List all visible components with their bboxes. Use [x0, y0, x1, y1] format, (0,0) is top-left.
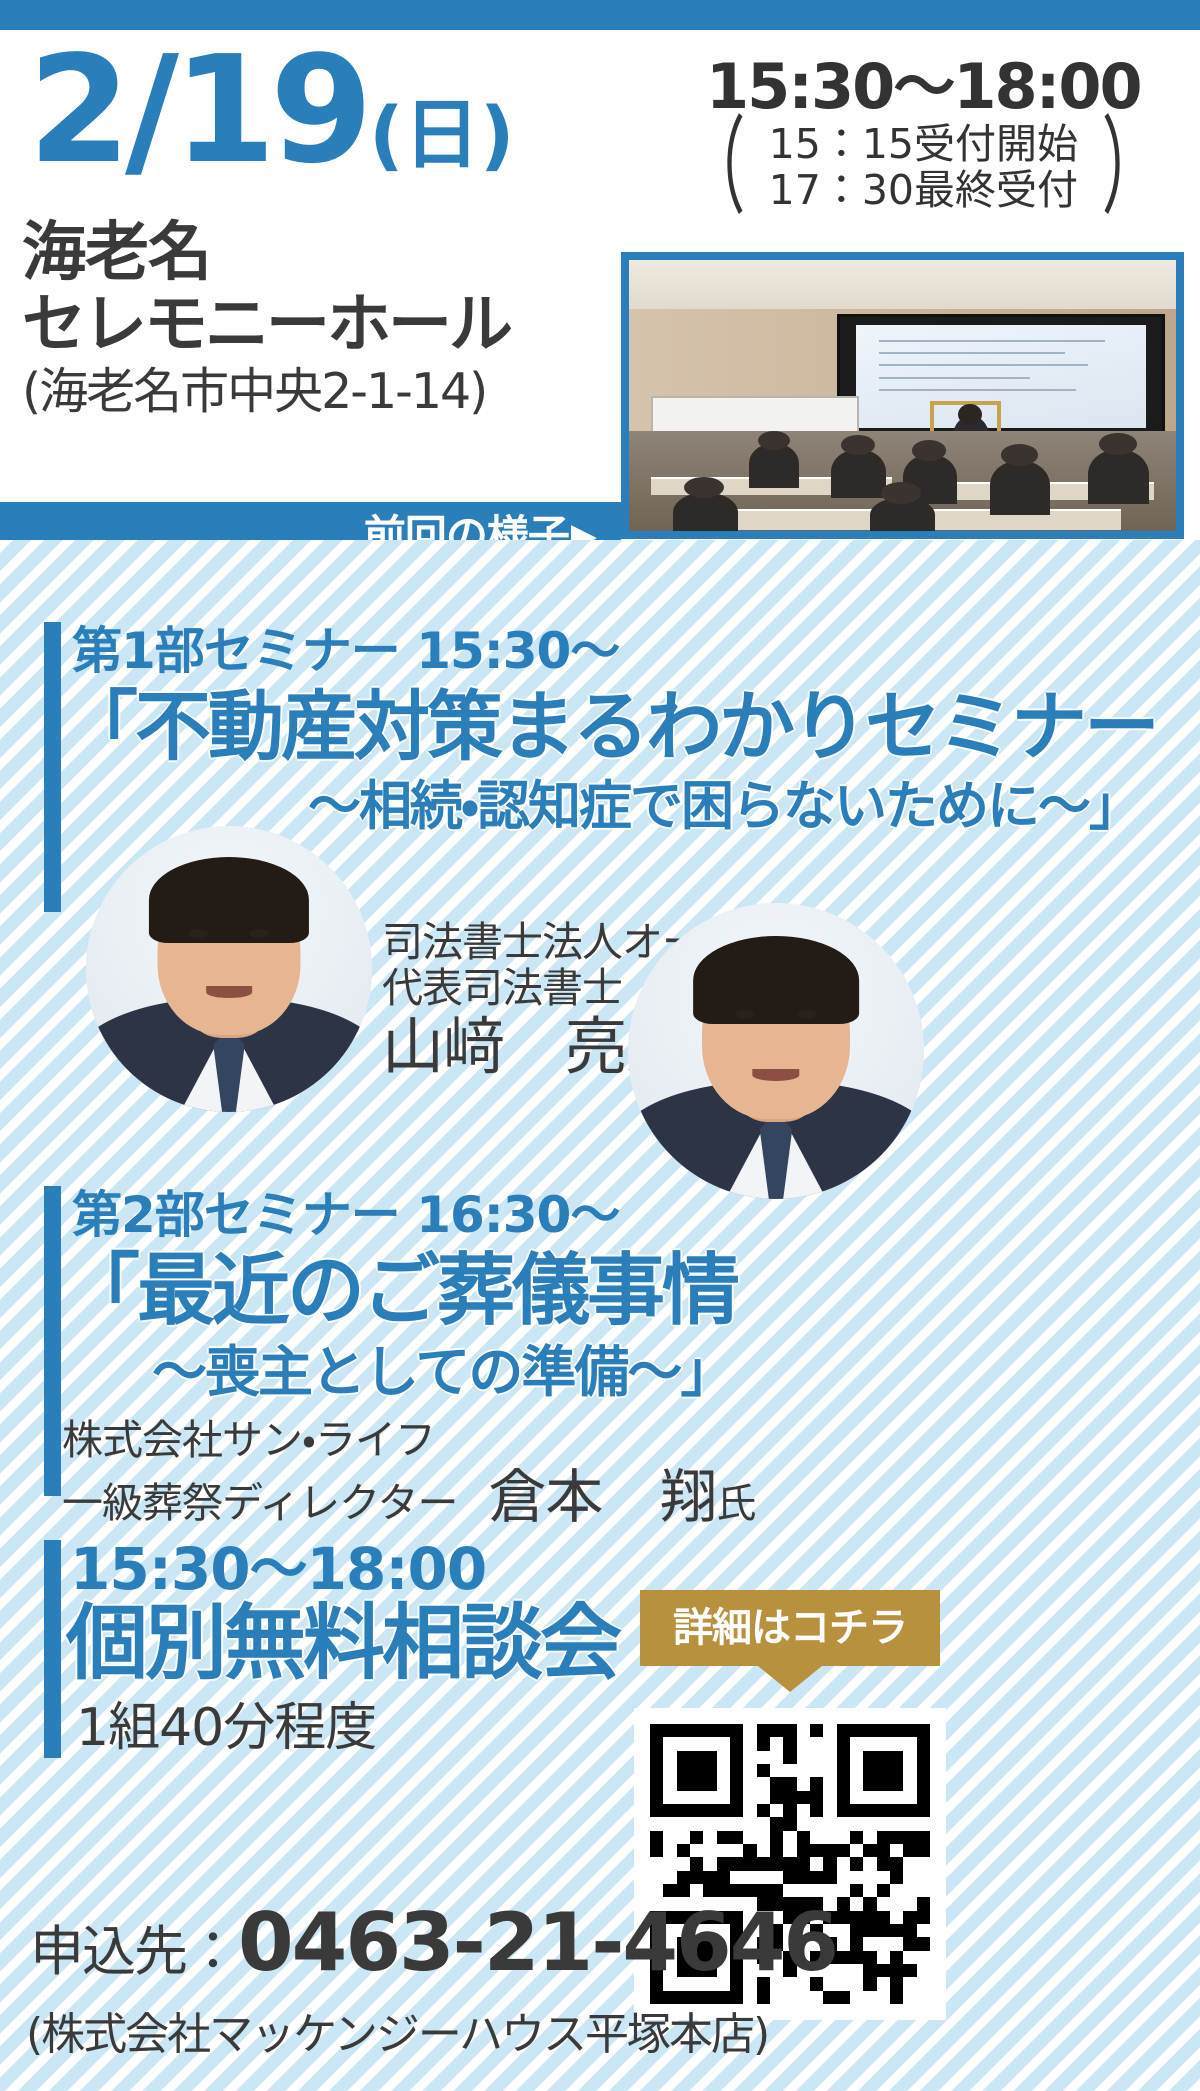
section-2-credential-line2: 一級葬祭ディレクター: [62, 1479, 458, 1527]
venue-address: (海老名市中央2-1-14): [22, 363, 510, 422]
event-time-notes-text: 15：15受付開始 17：30最終受付: [769, 122, 1078, 214]
event-time-block: 15:30〜18:00 （ 15：15受付開始 17：30最終受付 ）: [663, 56, 1184, 214]
section-1-subtitle: 〜相続・認知症で困らないために〜」: [308, 780, 1140, 834]
paren-close: ）: [1102, 135, 1160, 201]
contact-label: 申込先：: [30, 1907, 238, 1986]
content-panel: 第1部セミナー 15:30〜 「不動産対策まるわかりセミナー 〜相続・認知症で困…: [0, 540, 1200, 2091]
contact-company: (株式会社マッケンジーハウス平塚本店): [26, 1998, 768, 2062]
section-1-speaker-portrait: [86, 826, 372, 1112]
ribbon-tail-icon: [758, 1666, 822, 1692]
venue-name-line1: 海老名: [22, 218, 510, 290]
header-panel: 2/19 (日) 15:30〜18:00 （ 15：15受付開始 17：30最終…: [0, 30, 1200, 540]
section-2-speaker-suffix: 氏: [716, 1481, 755, 1527]
section-1-title: 「不動産対策まるわかりセミナー: [62, 688, 1157, 766]
section-2-title: 「最近のご葬儀事情: [62, 1252, 737, 1332]
venue-name-line2: セレモニーホール: [22, 290, 510, 362]
reception-end-note: 17：30最終受付: [769, 168, 1078, 214]
previous-event-photo: [629, 260, 1176, 531]
previous-event-photo-frame: [621, 252, 1184, 539]
contact-phone-line: 申込先： 0463-21-4646: [30, 1896, 837, 1989]
section-2-speaker-name-text: 倉本 翔: [488, 1463, 716, 1531]
details-cta-label: 詳細はコチラ: [673, 1608, 907, 1648]
section-2-kicker: 第2部セミナー 16:30〜: [72, 1190, 619, 1240]
section-2-credential-line1: 株式会社サン・ライフ: [62, 1416, 435, 1464]
contact-phone-number[interactable]: 0463-21-4646: [238, 1896, 837, 1989]
section-1-accent-bar: [44, 622, 61, 912]
details-cta-button[interactable]: 詳細はコチラ: [640, 1590, 940, 1666]
section-2-speaker-portrait: [628, 903, 924, 1199]
consultation-time: 15:30〜18:00: [70, 1540, 486, 1598]
section-2-accent-bar: [44, 1186, 61, 1496]
consultation-title: 個別無料相談会: [66, 1602, 619, 1686]
section-2-subtitle: 〜喪主としての準備〜」: [152, 1344, 733, 1400]
reception-start-note: 15：15受付開始: [769, 122, 1078, 168]
section-1-credential-line2: 代表司法書士: [382, 964, 622, 1012]
consultation-note: 1組40分程度: [76, 1698, 376, 1759]
paren-open: （: [687, 135, 745, 201]
section-1-kicker: 第1部セミナー 15:30〜: [72, 626, 619, 676]
event-date-number: 2/19: [28, 36, 367, 184]
venue-block: 海老名 セレモニーホール (海老名市中央2-1-14): [22, 218, 510, 422]
seminar-flyer: 2/19 (日) 15:30〜18:00 （ 15：15受付開始 17：30最終…: [0, 0, 1200, 2091]
consultation-accent-bar: [44, 1540, 61, 1758]
section-2-speaker-name: 一級葬祭ディレクター 倉本 翔氏: [62, 1468, 755, 1527]
event-date: 2/19 (日): [28, 36, 514, 184]
event-date-weekday: (日): [369, 97, 514, 173]
event-time-notes: （ 15：15受付開始 17：30最終受付 ）: [663, 122, 1184, 214]
